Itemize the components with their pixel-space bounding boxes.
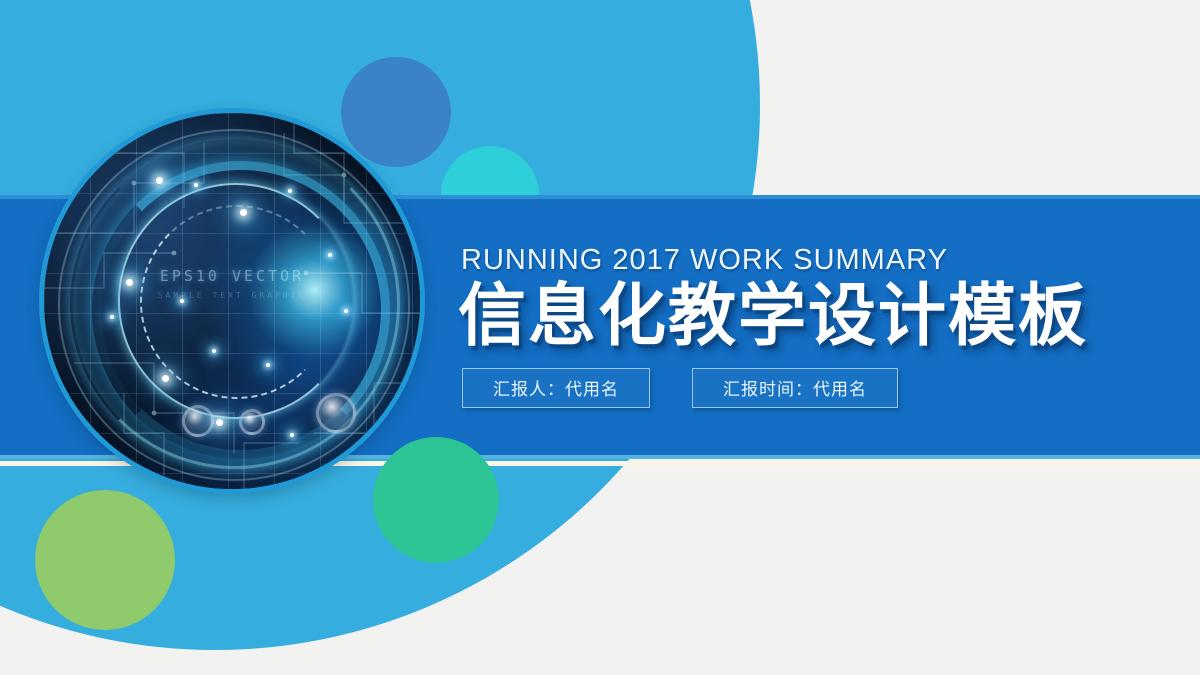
tech-sphere-icon: EPS10 VECTOR SAMPLE TEXT GRAPHIC: [44, 113, 420, 489]
title-text-block: RUNNING 2017 WORK SUMMARY 信息化教学设计模板 汇报人：…: [458, 246, 1088, 408]
sphere-ring-dashed: [140, 205, 334, 399]
sphere-spark: [156, 177, 163, 184]
date-box[interactable]: 汇报时间：代用名: [692, 368, 898, 408]
sphere-spark: [216, 419, 223, 426]
sphere-lens-1: [182, 405, 214, 437]
sphere-spark: [240, 209, 247, 216]
sphere-spark: [162, 375, 169, 382]
sphere-lens-2: [239, 409, 265, 435]
presenter-box[interactable]: 汇报人：代用名: [462, 368, 650, 408]
sphere-overlay-subtext: SAMPLE TEXT GRAPHIC: [44, 291, 420, 300]
slide-eyebrow: RUNNING 2017 WORK SUMMARY: [461, 246, 1088, 275]
sphere-lens-3: [316, 393, 356, 433]
sphere-spark: [126, 279, 133, 286]
meta-row: 汇报人：代用名 汇报时间：代用名: [462, 368, 1088, 408]
sphere-spark: [288, 189, 292, 193]
page-title: 信息化教学设计模板: [458, 281, 1088, 352]
sphere-spark: [194, 183, 198, 187]
sphere-spark: [290, 433, 294, 437]
decorative-circle-light-green: [35, 490, 175, 630]
sphere-spark: [266, 363, 270, 367]
sphere-spark: [212, 349, 216, 353]
tech-sphere-image: EPS10 VECTOR SAMPLE TEXT GRAPHIC: [44, 113, 420, 489]
sphere-spark: [328, 253, 332, 257]
sphere-spark: [344, 309, 348, 313]
presentation-slide: EPS10 VECTOR SAMPLE TEXT GRAPHIC RUNNING…: [0, 0, 1200, 675]
sphere-spark: [110, 315, 114, 319]
